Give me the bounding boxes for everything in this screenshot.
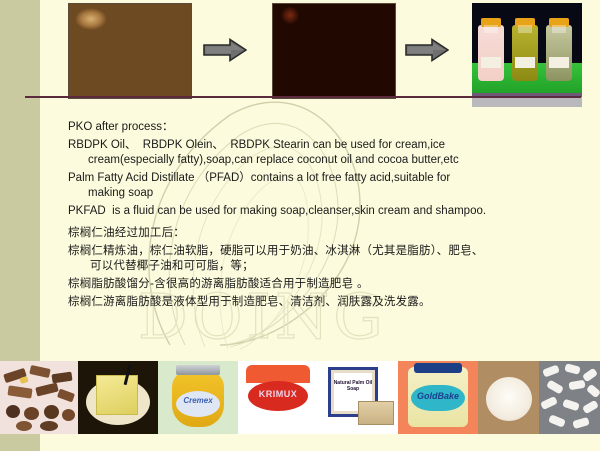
cremex-label: Cremex xyxy=(176,391,220,417)
process-row xyxy=(0,0,600,100)
krimux-label-text: KRIMUX xyxy=(246,389,310,399)
en-line-4: Palm Fatty Acid Distillate （PFAD）contain… xyxy=(68,171,588,187)
en-line-1: PKO after process： xyxy=(68,120,588,136)
product-cremex-jar: Cremex xyxy=(158,361,238,434)
en-line-2: RBDPK Oil、 RBDPK Olein、 RBDPK Stearin ca… xyxy=(68,138,588,154)
bottle-label xyxy=(515,57,535,68)
product-soap-noodles xyxy=(539,361,600,434)
bottle-label xyxy=(549,57,569,68)
sample-bottle-1 xyxy=(478,25,504,81)
butter-block-icon xyxy=(96,375,138,415)
arrow-1-icon xyxy=(203,38,247,62)
bottle-neck xyxy=(518,25,532,33)
bottle-label xyxy=(481,57,501,68)
jar-lid-icon xyxy=(414,363,462,373)
product-palm-oil-soap: Natural Palm Oil Soap xyxy=(318,361,398,434)
bottle-neck xyxy=(484,25,498,33)
en-line-5: making soap xyxy=(68,186,588,202)
bottle-neck xyxy=(552,25,566,33)
cn-line-5: 棕榈仁游离脂肪酸是液体型用于制造肥皂、清洁剂、润肤露及洗发露。 xyxy=(68,293,588,309)
soap-bar-icon xyxy=(358,401,394,425)
product-butter-block xyxy=(78,361,158,434)
cn-line-2: 棕榈仁精炼油，棕仁油软脂，硬脂可以用于奶油、冰淇淋（尤其是脂肪）、肥皂、 xyxy=(68,242,588,258)
soap-flakes-pile xyxy=(486,377,532,421)
en-line-6: PKFAD is a fluid can be used for making … xyxy=(68,204,588,220)
en-line-3: cream(especially fatty),soap,can replace… xyxy=(68,153,588,169)
cremex-jar-icon: Cremex xyxy=(172,371,224,427)
goldbake-jar-icon: GoldBake xyxy=(408,367,468,427)
krimux-jar-icon: KRIMUX xyxy=(246,365,310,429)
cn-line-3: 可以代替椰子油和可可脂，等； xyxy=(68,257,588,273)
jar-lid-icon xyxy=(176,365,220,375)
sample-bottle-3 xyxy=(546,25,572,81)
horizontal-rule xyxy=(25,96,581,98)
soap-box-text: Natural Palm Oil Soap xyxy=(331,380,375,392)
process-image-oil-samples xyxy=(472,3,582,107)
process-image-palm-fruit xyxy=(272,3,396,99)
sample-bottle-2 xyxy=(512,25,538,81)
sample-shelf xyxy=(472,97,582,107)
product-chocolate-candies xyxy=(0,361,78,434)
goldbake-label-text: GoldBake xyxy=(408,391,468,401)
body-text: PKO after process： RBDPK Oil、 RBDPK Olei… xyxy=(68,120,588,311)
product-krimux-jar: KRIMUX xyxy=(238,361,318,434)
product-soap-flakes xyxy=(478,361,539,434)
slide: DOING xyxy=(0,0,600,451)
arrow-2-icon xyxy=(405,38,449,62)
process-image-palm-kernel-shells xyxy=(68,3,192,99)
cremex-label-text: Cremex xyxy=(176,396,220,405)
product-image-strip: Cremex KRIMUX Natural Palm Oil Soap xyxy=(0,361,600,434)
cn-line-4: 棕榈脂肪酸馏分-含很高的游离脂肪酸适合用于制造肥皂 。 xyxy=(68,275,588,291)
product-goldbake-jar: GoldBake xyxy=(398,361,478,434)
cn-line-1: 棕榈仁油经过加工后： xyxy=(68,224,588,240)
